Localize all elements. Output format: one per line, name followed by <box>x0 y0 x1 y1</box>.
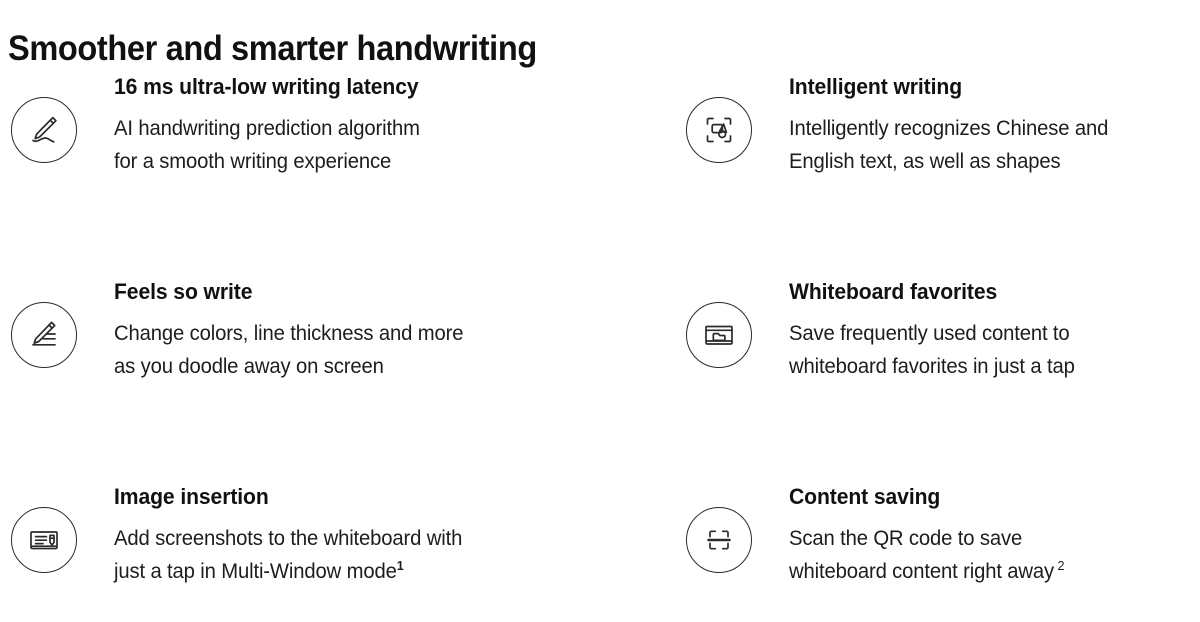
feature-text: Content saving Scan the QR code to save … <box>763 482 1200 588</box>
desc-line: as you doodle away on screen <box>114 350 655 383</box>
qr-scan-icon <box>686 507 752 573</box>
feature-grid: 16 ms ultra-low writing latency AI handw… <box>0 72 1200 622</box>
shape-recognition-scan-icon <box>686 97 752 163</box>
desc-line: Change colors, line thickness and more <box>114 317 655 350</box>
feature-icon-wrap <box>675 72 763 163</box>
desc-line: English text, as well as shapes <box>789 145 1186 178</box>
feature-text: Image insertion Add screenshots to the w… <box>88 482 675 588</box>
feature-item-whiteboard-favorites: Whiteboard favorites Save frequently use… <box>675 277 1200 482</box>
feature-highlights-page: Smoother and smarter handwriting 16 ms u… <box>0 0 1200 622</box>
feature-description: Intelligently recognizes Chinese and Eng… <box>789 112 1186 178</box>
feature-title: Feels so write <box>114 277 653 307</box>
feature-icon-wrap <box>0 482 88 573</box>
desc-line: just a tap in Multi-Window mode1 <box>114 555 655 588</box>
desc-line: Add screenshots to the whiteboard with <box>114 522 655 555</box>
desc-line: Scan the QR code to save <box>789 522 1186 555</box>
desc-line: whiteboard content right away2 <box>789 555 1186 588</box>
footnote-marker: 2 <box>1058 558 1065 573</box>
feature-title: 16 ms ultra-low writing latency <box>114 72 653 102</box>
feature-description: Save frequently used content to whiteboa… <box>789 317 1186 383</box>
feature-item-content-saving: Content saving Scan the QR code to save … <box>675 482 1200 622</box>
feature-icon-wrap <box>0 277 88 368</box>
feature-title: Image insertion <box>114 482 653 512</box>
feature-item-writing-latency: 16 ms ultra-low writing latency AI handw… <box>0 72 675 277</box>
feature-description: Scan the QR code to save whiteboard cont… <box>789 522 1186 588</box>
feature-title: Content saving <box>789 482 1184 512</box>
desc-line: Intelligently recognizes Chinese and <box>789 112 1186 145</box>
page-title: Smoother and smarter handwriting <box>8 27 537 71</box>
feature-title: Intelligent writing <box>789 72 1184 102</box>
feature-icon-wrap <box>675 277 763 368</box>
pen-stroke-icon <box>11 97 77 163</box>
feature-item-image-insertion: Image insertion Add screenshots to the w… <box>0 482 675 622</box>
feature-icon-wrap <box>0 72 88 163</box>
pen-lines-icon <box>11 302 77 368</box>
board-pen-image-icon <box>11 507 77 573</box>
feature-item-intelligent-writing: Intelligent writing Intelligently recogn… <box>675 72 1200 277</box>
feature-description: Add screenshots to the whiteboard with j… <box>114 522 655 588</box>
desc-line: for a smooth writing experience <box>114 145 655 178</box>
feature-icon-wrap <box>675 482 763 573</box>
feature-description: AI handwriting prediction algorithm for … <box>114 112 655 178</box>
whiteboard-folder-icon <box>686 302 752 368</box>
feature-item-feels-so-write: Feels so write Change colors, line thick… <box>0 277 675 482</box>
desc-line: AI handwriting prediction algorithm <box>114 112 655 145</box>
feature-text: Feels so write Change colors, line thick… <box>88 277 675 383</box>
feature-title: Whiteboard favorites <box>789 277 1184 307</box>
feature-text: Intelligent writing Intelligently recogn… <box>763 72 1200 178</box>
feature-text: Whiteboard favorites Save frequently use… <box>763 277 1200 383</box>
footnote-marker: 1 <box>397 558 404 573</box>
desc-line-text: whiteboard content right away <box>789 560 1054 583</box>
feature-description: Change colors, line thickness and more a… <box>114 317 655 383</box>
desc-line: Save frequently used content to <box>789 317 1186 350</box>
desc-line: whiteboard favorites in just a tap <box>789 350 1186 383</box>
feature-text: 16 ms ultra-low writing latency AI handw… <box>88 72 675 178</box>
desc-line-text: just a tap in Multi-Window mode <box>114 560 397 583</box>
